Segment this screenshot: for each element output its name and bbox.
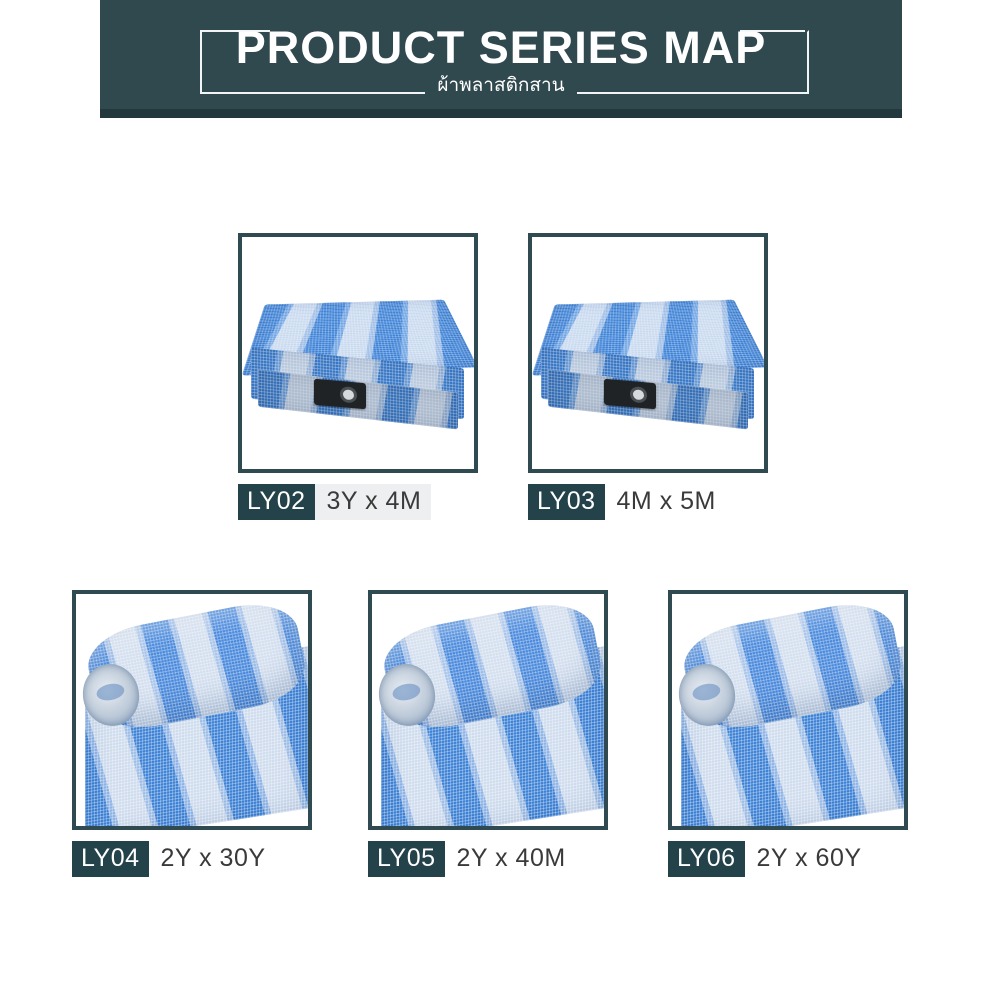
- product-dimension: 2Y x 30Y: [149, 841, 276, 877]
- tarp-roll-icon: [76, 594, 308, 826]
- product-card-ly06[interactable]: LY06 2Y x 60Y: [668, 590, 908, 877]
- page-subtitle-wrap: ผ้าพลาสติกสาน: [100, 72, 902, 98]
- product-card-ly05[interactable]: LY05 2Y x 40M: [368, 590, 608, 877]
- product-label-row: LY04 2Y x 30Y: [72, 841, 312, 877]
- tarp-roll-icon: [372, 594, 604, 826]
- product-card-ly04[interactable]: LY04 2Y x 30Y: [72, 590, 312, 877]
- product-label-row: LY06 2Y x 60Y: [668, 841, 908, 877]
- product-image-frame: [668, 590, 908, 830]
- product-dimension: 4M x 5M: [605, 484, 726, 520]
- product-code-badge: LY04: [72, 841, 149, 877]
- product-label-row: LY02 3Y x 4M: [238, 484, 478, 520]
- product-dimension: 2Y x 40M: [445, 841, 576, 877]
- product-card-ly02[interactable]: LY02 3Y x 4M: [238, 233, 478, 520]
- product-code-badge: LY02: [238, 484, 315, 520]
- product-code-badge: LY06: [668, 841, 745, 877]
- product-label-row: LY03 4M x 5M: [528, 484, 768, 520]
- grommet-icon: [314, 379, 366, 410]
- folded-tarp-icon: [532, 237, 764, 469]
- product-label-row: LY05 2Y x 40M: [368, 841, 608, 877]
- header-banner: PRODUCT SERIES MAP ผ้าพลาสติกสาน: [100, 0, 902, 118]
- product-dimension: 3Y x 4M: [315, 484, 432, 520]
- banner-bottom-strip: [100, 109, 902, 118]
- product-code-badge: LY03: [528, 484, 605, 520]
- product-code-badge: LY05: [368, 841, 445, 877]
- product-image-frame: [528, 233, 768, 473]
- folded-tarp-icon: [242, 237, 474, 469]
- product-card-ly03[interactable]: LY03 4M x 5M: [528, 233, 768, 520]
- product-image-frame: [72, 590, 312, 830]
- page-subtitle: ผ้าพลาสติกสาน: [425, 72, 576, 98]
- product-image-frame: [238, 233, 478, 473]
- page-title: PRODUCT SERIES MAP: [100, 20, 902, 76]
- product-image-frame: [368, 590, 608, 830]
- product-dimension: 2Y x 60Y: [745, 841, 872, 877]
- grommet-icon: [604, 379, 656, 410]
- tarp-roll-icon: [672, 594, 904, 826]
